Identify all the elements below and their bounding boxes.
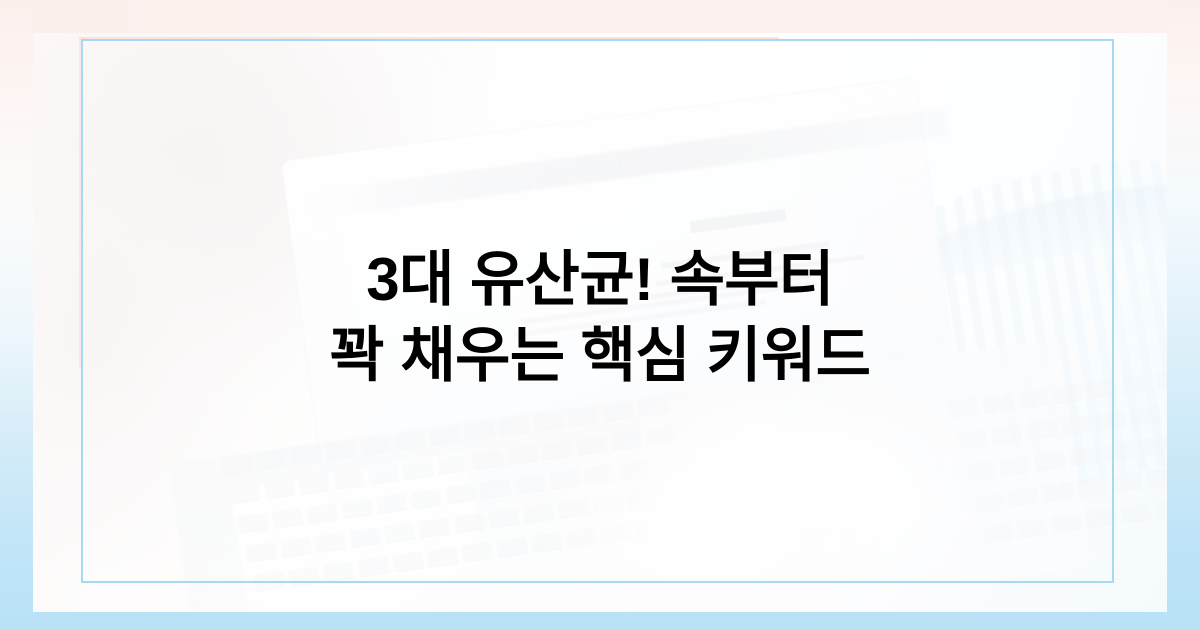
title-line-2: 꽉 채우는 핵심 키워드 xyxy=(0,318,1200,394)
frame-band-top xyxy=(0,0,1200,33)
page-title: 3대 유산균! 속부터 꽉 채우는 핵심 키워드 xyxy=(0,242,1200,394)
title-line-1: 3대 유산균! 속부터 xyxy=(0,242,1200,318)
frame-band-bottom xyxy=(0,612,1200,630)
thumbnail-canvas: 3대 유산균! 속부터 꽉 채우는 핵심 키워드 xyxy=(0,0,1200,630)
